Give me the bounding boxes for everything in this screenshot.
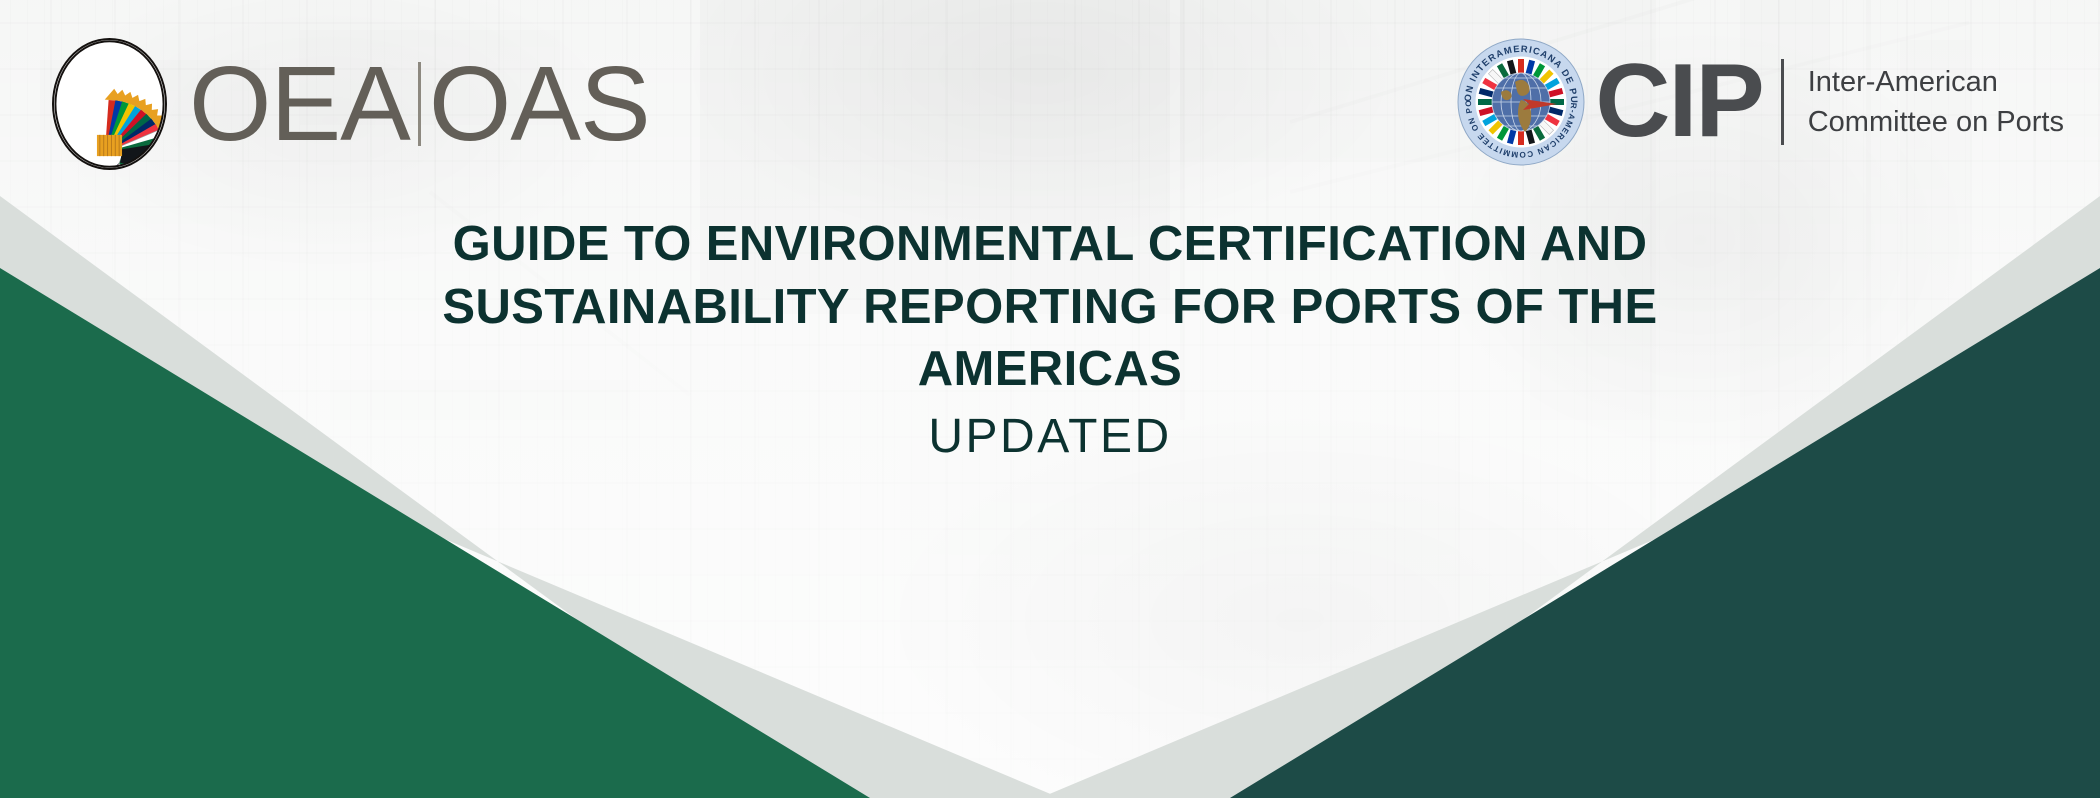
cip-subtitle-line2: Committee on Ports [1808, 102, 2064, 142]
oas-wordmark: OEA OAS [189, 51, 650, 157]
cip-wordmark: CIP [1595, 54, 1762, 150]
oas-wordmark-separator [418, 62, 421, 146]
oas-seal-icon [52, 38, 167, 170]
oas-logo: OEA OAS [52, 38, 650, 170]
oas-wordmark-en: OAS [429, 51, 650, 157]
cip-logo: COMISION INTERAMERICANA DE PUERTOS INTER… [1457, 38, 2064, 166]
cip-subtitle: Inter-American Committee on Ports [1808, 62, 2064, 142]
cip-divider [1781, 59, 1784, 145]
cip-seal-icon: COMISION INTERAMERICANA DE PUERTOS INTER… [1457, 38, 1585, 166]
cip-subtitle-line1: Inter-American [1808, 62, 2064, 102]
banner-root: OEA OAS COMISION INTERAMERICANA DE PUERT… [0, 0, 2100, 798]
oas-wordmark-es: OEA [189, 51, 410, 157]
